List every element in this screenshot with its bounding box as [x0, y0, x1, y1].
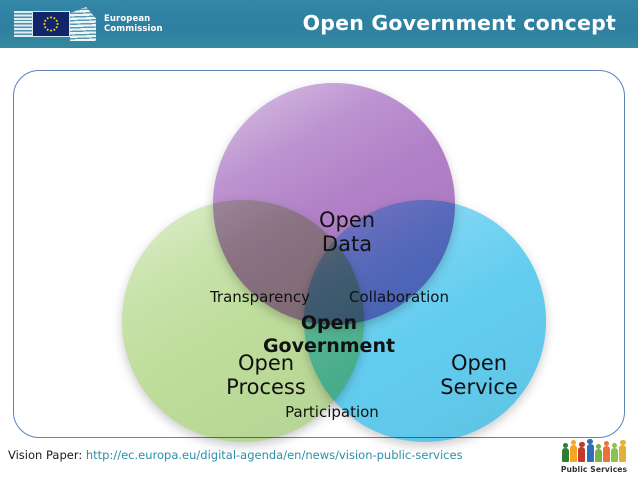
venn-diagram: Open Data Open Process Open Service Open…: [110, 72, 530, 432]
footer-text: Vision Paper: http://ec.europa.eu/digita…: [8, 448, 463, 462]
vision-paper-link[interactable]: http://ec.europa.eu/digital-agenda/en/ne…: [86, 448, 463, 462]
venn-label-open-process: Open Process: [206, 351, 326, 400]
logo-text-line2: Commission: [104, 24, 163, 35]
venn-label-collaboration: Collaboration: [324, 289, 474, 306]
venn-label-open-service: Open Service: [419, 351, 539, 400]
public-services-label: Public Services: [558, 465, 630, 474]
header-bar: European Commission Open Government conc…: [0, 0, 638, 48]
venn-label-open-data-line1: Open: [287, 208, 407, 232]
logo-stripes-right: [70, 7, 96, 41]
logo-text-line1: European: [104, 14, 163, 25]
footer-prefix: Vision Paper:: [8, 448, 82, 462]
venn-label-transparency: Transparency: [190, 289, 330, 306]
eu-flag-icon: [32, 11, 70, 37]
footer: Vision Paper: http://ec.europa.eu/digita…: [0, 439, 638, 479]
public-services-logo: Public Services: [558, 440, 630, 476]
venn-label-open-data: Open Data: [287, 208, 407, 257]
people-icon: [560, 440, 628, 462]
page-title: Open Government concept: [303, 11, 616, 35]
venn-label-participation: Participation: [262, 404, 402, 421]
logo-text: European Commission: [104, 14, 163, 35]
eu-stars: [42, 15, 60, 33]
eu-flag-graphic: [14, 8, 74, 40]
venn-label-open-service-line1: Open: [419, 351, 539, 375]
venn-label-open-government: Open Government: [244, 312, 414, 358]
venn-label-open-service-line2: Service: [419, 375, 539, 399]
venn-label-open-data-line2: Data: [287, 232, 407, 256]
european-commission-logo: European Commission: [14, 7, 142, 41]
venn-label-open-process-line2: Process: [206, 375, 326, 399]
venn-label-open-government-line2: Government: [244, 335, 414, 358]
venn-label-open-government-line1: Open: [244, 312, 414, 335]
